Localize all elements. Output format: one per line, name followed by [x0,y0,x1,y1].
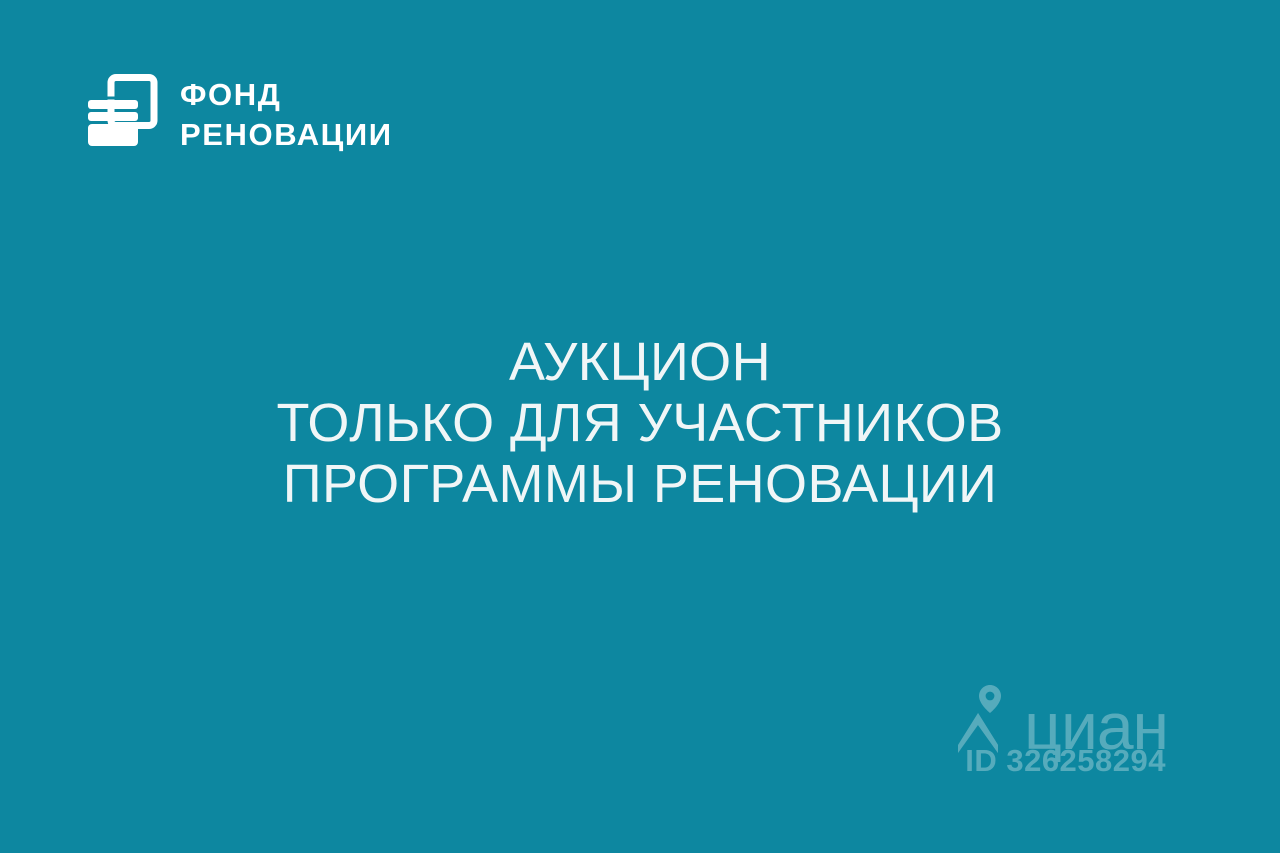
brand-lockup: ФОНД РЕНОВАЦИИ [84,74,393,154]
headline: АУКЦИОН ТОЛЬКО ДЛЯ УЧАСТНИКОВ ПРОГРАММЫ … [0,332,1280,515]
cian-watermark: циан ID 326258294 [956,683,1168,779]
listing-banner: ФОНД РЕНОВАЦИИ АУКЦИОН ТОЛЬКО ДЛЯ УЧАСТН… [0,0,1280,853]
cian-watermark-name: циан [1024,698,1168,755]
brand-wordmark-line-1: ФОНД [180,79,393,110]
brand-wordmark-line-2: РЕНОВАЦИИ [180,119,393,150]
brand-wordmark: ФОНД РЕНОВАЦИИ [180,79,393,150]
headline-line-1: АУКЦИОН [0,332,1280,393]
cian-watermark-listing-id: ID 326258294 [956,743,1168,779]
cian-map-pin-roof-icon [956,683,1018,755]
stacked-documents-icon [84,74,158,154]
cian-watermark-row: циан [956,683,1168,755]
headline-line-3: ПРОГРАММЫ РЕНОВАЦИИ [0,454,1280,515]
headline-line-2: ТОЛЬКО ДЛЯ УЧАСТНИКОВ [0,393,1280,454]
